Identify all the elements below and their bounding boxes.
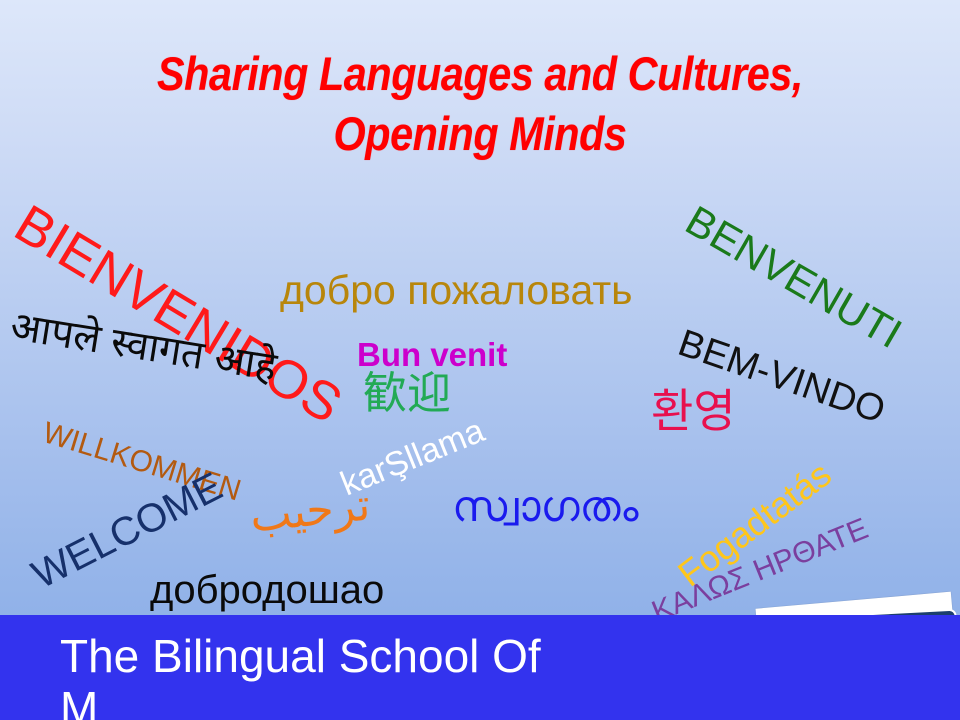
word-tarheeb: ترحيب (248, 483, 372, 539)
word-text: добро пожаловать (280, 267, 633, 313)
word-text: സ്വാഗതം (452, 483, 639, 531)
word-dobro-pozhalovat: добро пожаловать (280, 270, 633, 311)
word-text: Bun venit (357, 336, 507, 373)
word-swagatham: സ്വാഗതം (452, 486, 639, 529)
slide-title: Sharing Languages and Cultures, Opening … (58, 44, 903, 164)
word-dobrodosao: добродошао (150, 570, 384, 610)
word-kangei: 歓迎 (363, 372, 451, 416)
footer-bar: The Bilingual School Of M (0, 615, 960, 720)
word-text: добродошао (150, 568, 384, 612)
word-bun-venit: Bun venit (357, 338, 507, 371)
word-text: 歓迎 (363, 369, 451, 418)
word-hwanyeong: 환영 (651, 388, 736, 434)
word-text: ترحيب (248, 480, 373, 541)
school-name-text: The Bilingual School Of M (60, 631, 541, 720)
word-text: 환영 (651, 385, 736, 437)
presentation-slide: Sharing Languages and Cultures, Opening … (0, 0, 960, 720)
